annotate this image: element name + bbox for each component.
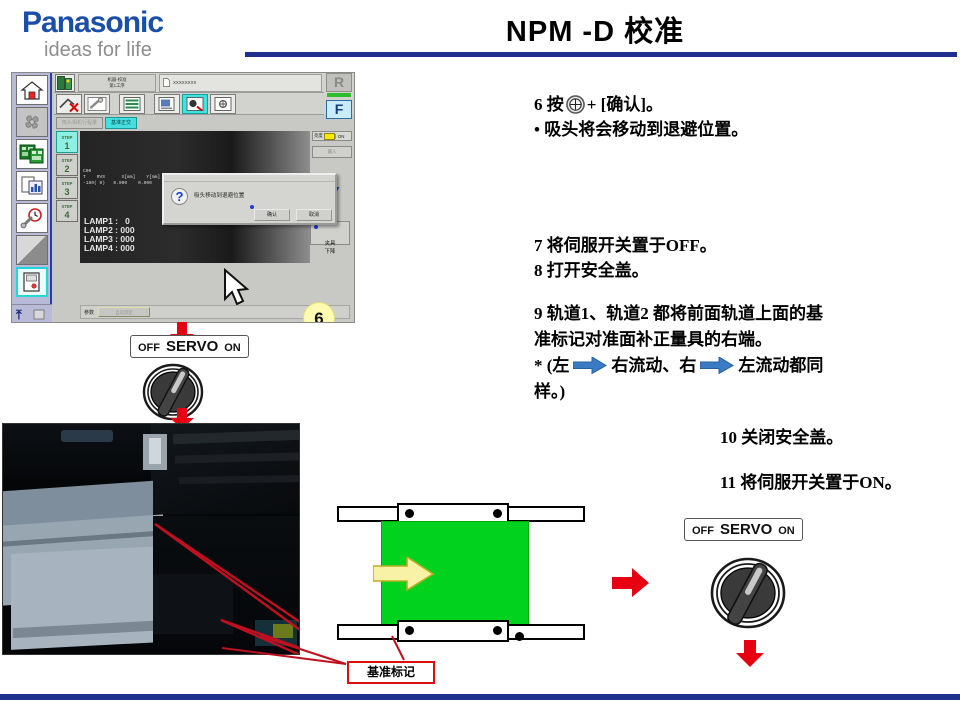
instruction-step-11: 11 将伺服开关置于ON。 xyxy=(720,468,902,493)
dialog-ok-button[interactable]: 确认 xyxy=(254,209,290,221)
step-4-number: 4 xyxy=(57,210,77,220)
jig-lower-label: 夹具 下降 xyxy=(325,241,336,255)
step-4-label: STEP xyxy=(57,203,77,210)
step-2-number: 2 xyxy=(57,164,77,174)
cancel-tool-icon[interactable] xyxy=(56,94,82,114)
document-icon xyxy=(163,78,170,87)
fiducial-dot-3 xyxy=(405,626,414,635)
step9-line3: * (左 右流动、右 左流动都同 xyxy=(534,353,934,379)
instruction-steps-7-8: 7 将伺服开关置于OFF。 8 打开安全盖。 xyxy=(534,233,717,283)
servo-on-text-left: ON xyxy=(224,342,241,354)
red-down-arrow-icon-3 xyxy=(734,640,766,668)
chart-document-icon[interactable] xyxy=(16,171,48,201)
parameter-label: 参数 xyxy=(84,309,94,316)
slide-root: Panasonic ideas for life NPM -D 校准 xyxy=(0,0,960,720)
logo-tagline: ideas for life xyxy=(44,40,242,60)
step9-line3c: 左流动都同 xyxy=(738,356,823,375)
blue-right-arrow-icon-2 xyxy=(700,357,734,374)
title-divider xyxy=(245,52,957,57)
input-button[interactable]: 输入 xyxy=(312,146,352,158)
step6-suffix: + [确认]。 xyxy=(587,95,663,114)
software-sidebar: ⤒ xyxy=(12,73,52,323)
red-right-arrow-icon xyxy=(612,568,650,598)
servo-main-text-left: SERVO xyxy=(166,338,218,355)
board-data-tool-icon[interactable] xyxy=(154,94,180,114)
software-screenshot-panel: ⤒ 机器-校准 第1工序 xyxy=(11,72,355,323)
instruction-step-8: 8 打开安全盖。 xyxy=(534,258,717,283)
fiducial-mark-label: 基准标记 xyxy=(347,661,435,684)
fiducial-dot-2 xyxy=(493,509,502,518)
servo-on-text-right: ON xyxy=(778,525,795,537)
photo-annotation-lines xyxy=(3,424,300,655)
step-3-label: STEP xyxy=(57,180,77,187)
step9-line3a: * (左 xyxy=(534,356,569,375)
logo-wordmark: Panasonic xyxy=(22,8,242,38)
step6-line2: • 吸头将会移动到退避位置。 xyxy=(534,117,748,142)
panasonic-logo: Panasonic ideas for life xyxy=(22,8,242,60)
software-main-area: 机器-校准 第1工序 XXXXXXXX xyxy=(54,73,354,322)
instruction-step-10: 10 关闭安全盖。 xyxy=(720,423,843,448)
jig-status-dot xyxy=(314,225,318,229)
crosshair-button-icon xyxy=(566,95,585,114)
fan-icon[interactable] xyxy=(16,107,48,137)
wrench-tool-icon[interactable] xyxy=(84,94,110,114)
mode-status-bar xyxy=(327,93,351,97)
mode-indicator-group: R F xyxy=(324,73,354,115)
flow-direction-arrow-icon xyxy=(373,557,435,591)
step-1-number: 1 xyxy=(57,141,77,151)
blue-right-arrow-icon-1 xyxy=(573,357,607,374)
step-3-number: 3 xyxy=(57,187,77,197)
auto-measure-button[interactable]: 自动测定 xyxy=(98,307,150,317)
servo-knob-right[interactable] xyxy=(707,555,793,633)
step9-line2: 准标记对准面补正量具的右端。 xyxy=(534,327,934,353)
machine-name-field: 机器-校准 第1工序 xyxy=(78,74,156,92)
step-1-label: STEP xyxy=(57,134,77,141)
step9-line1: 9 轨道1、轨道2 都将前面轨道上面的基 xyxy=(534,301,934,327)
brightness-label: 亮度 xyxy=(313,133,324,139)
calibration-tool-icon[interactable] xyxy=(182,94,208,114)
step6-prefix: 6 按 xyxy=(534,95,564,114)
camera-side-controls: 亮度 ON 输入 xyxy=(312,131,352,158)
step9-line3b: 右流动、右 xyxy=(611,356,696,375)
table-tool-icon[interactable] xyxy=(119,94,145,114)
dialog-message: 吸头移动到退避位置 xyxy=(194,191,244,199)
fiducial-dot-4 xyxy=(493,626,502,635)
step-button-4[interactable]: STEP 4 xyxy=(56,200,78,222)
tab-fiducial-orthogonal[interactable]: 基准正交 xyxy=(105,117,137,129)
servo-switch-label-left: OFF SERVO ON xyxy=(130,335,249,358)
servo-main-text-right: SERVO xyxy=(720,521,772,538)
clock-wrench-icon[interactable] xyxy=(16,203,48,233)
confirm-dialog: ? 吸头移动到退避位置 确认 取消 xyxy=(162,173,337,225)
question-icon: ? xyxy=(171,188,188,205)
dialog-cancel-button[interactable]: 取消 xyxy=(296,209,332,221)
document-name-text: XXXXXXXX xyxy=(173,80,196,85)
camera-tool-icon[interactable] xyxy=(210,94,236,114)
fiducial-dot-1 xyxy=(405,509,414,518)
print-small-icon[interactable] xyxy=(32,309,46,321)
page-title: NPM -D 校准 xyxy=(245,8,945,50)
readout-values: -180( 0) 0.000 0.000 - xyxy=(83,181,171,187)
step-button-1[interactable]: STEP 1 xyxy=(56,131,78,153)
pcb-alignment-diagram xyxy=(337,503,587,643)
step-2-label: STEP xyxy=(57,157,77,164)
footer-divider xyxy=(0,694,960,700)
machine-interior-photo xyxy=(2,423,300,655)
lamp-readout: LAMP1 : 0 LAMP2 : 000 LAMP3 : 000 LAMP4 … xyxy=(84,217,135,253)
step6-line1: 6 按 + [确认]。 xyxy=(534,92,748,117)
instruction-step-9: 9 轨道1、轨道2 都将前面轨道上面的基 准标记对准面补正量具的右端。 * (左… xyxy=(534,301,934,405)
instruction-step-6: 6 按 + [确认]。 • 吸头将会移动到退避位置。 xyxy=(534,92,748,142)
step9-line4: 样。) xyxy=(534,379,934,405)
sidebar-bottom-bar: ⤒ xyxy=(12,304,52,323)
gray-panel-icon[interactable] xyxy=(16,235,48,265)
document-name-field: XXXXXXXX xyxy=(159,74,322,92)
step-button-3[interactable]: STEP 3 xyxy=(56,177,78,199)
instruction-step-7: 7 将伺服开关置于OFF。 xyxy=(534,233,717,258)
mode-r-indicator[interactable]: R xyxy=(326,73,352,92)
brightness-control[interactable]: 亮度 ON xyxy=(312,131,352,141)
mode-f-indicator[interactable]: F xyxy=(326,100,352,119)
software-topbar: 机器-校准 第1工序 XXXXXXXX xyxy=(54,73,324,93)
servo-off-text-right: OFF xyxy=(692,525,714,537)
fiducial-dot-5 xyxy=(515,632,524,641)
printer-icon[interactable] xyxy=(16,267,48,297)
home-icon[interactable] xyxy=(16,75,48,105)
chevron-up-icon[interactable]: ⤒ xyxy=(16,308,22,321)
software-tab-bar: 吸头相机行程量 基准正交 xyxy=(56,117,139,129)
pcb-board-icon[interactable] xyxy=(16,139,48,169)
step-button-column: STEP 1 STEP 2 STEP 3 STEP 4 xyxy=(56,131,78,223)
machine-status-icon[interactable] xyxy=(55,74,75,92)
step-button-2[interactable]: STEP 2 xyxy=(56,154,78,176)
dialog-titlebar xyxy=(164,175,335,182)
brightness-state: ON xyxy=(335,134,347,139)
brightness-toggle[interactable] xyxy=(324,133,335,140)
tab-nozzle-camera-stroke[interactable]: 吸头相机行程量 xyxy=(56,117,103,129)
software-toolbar-row2 xyxy=(54,93,324,115)
mouse-cursor-icon xyxy=(221,268,255,308)
servo-off-text-left: OFF xyxy=(138,342,160,354)
servo-switch-label-right: OFF SERVO ON xyxy=(684,518,803,541)
